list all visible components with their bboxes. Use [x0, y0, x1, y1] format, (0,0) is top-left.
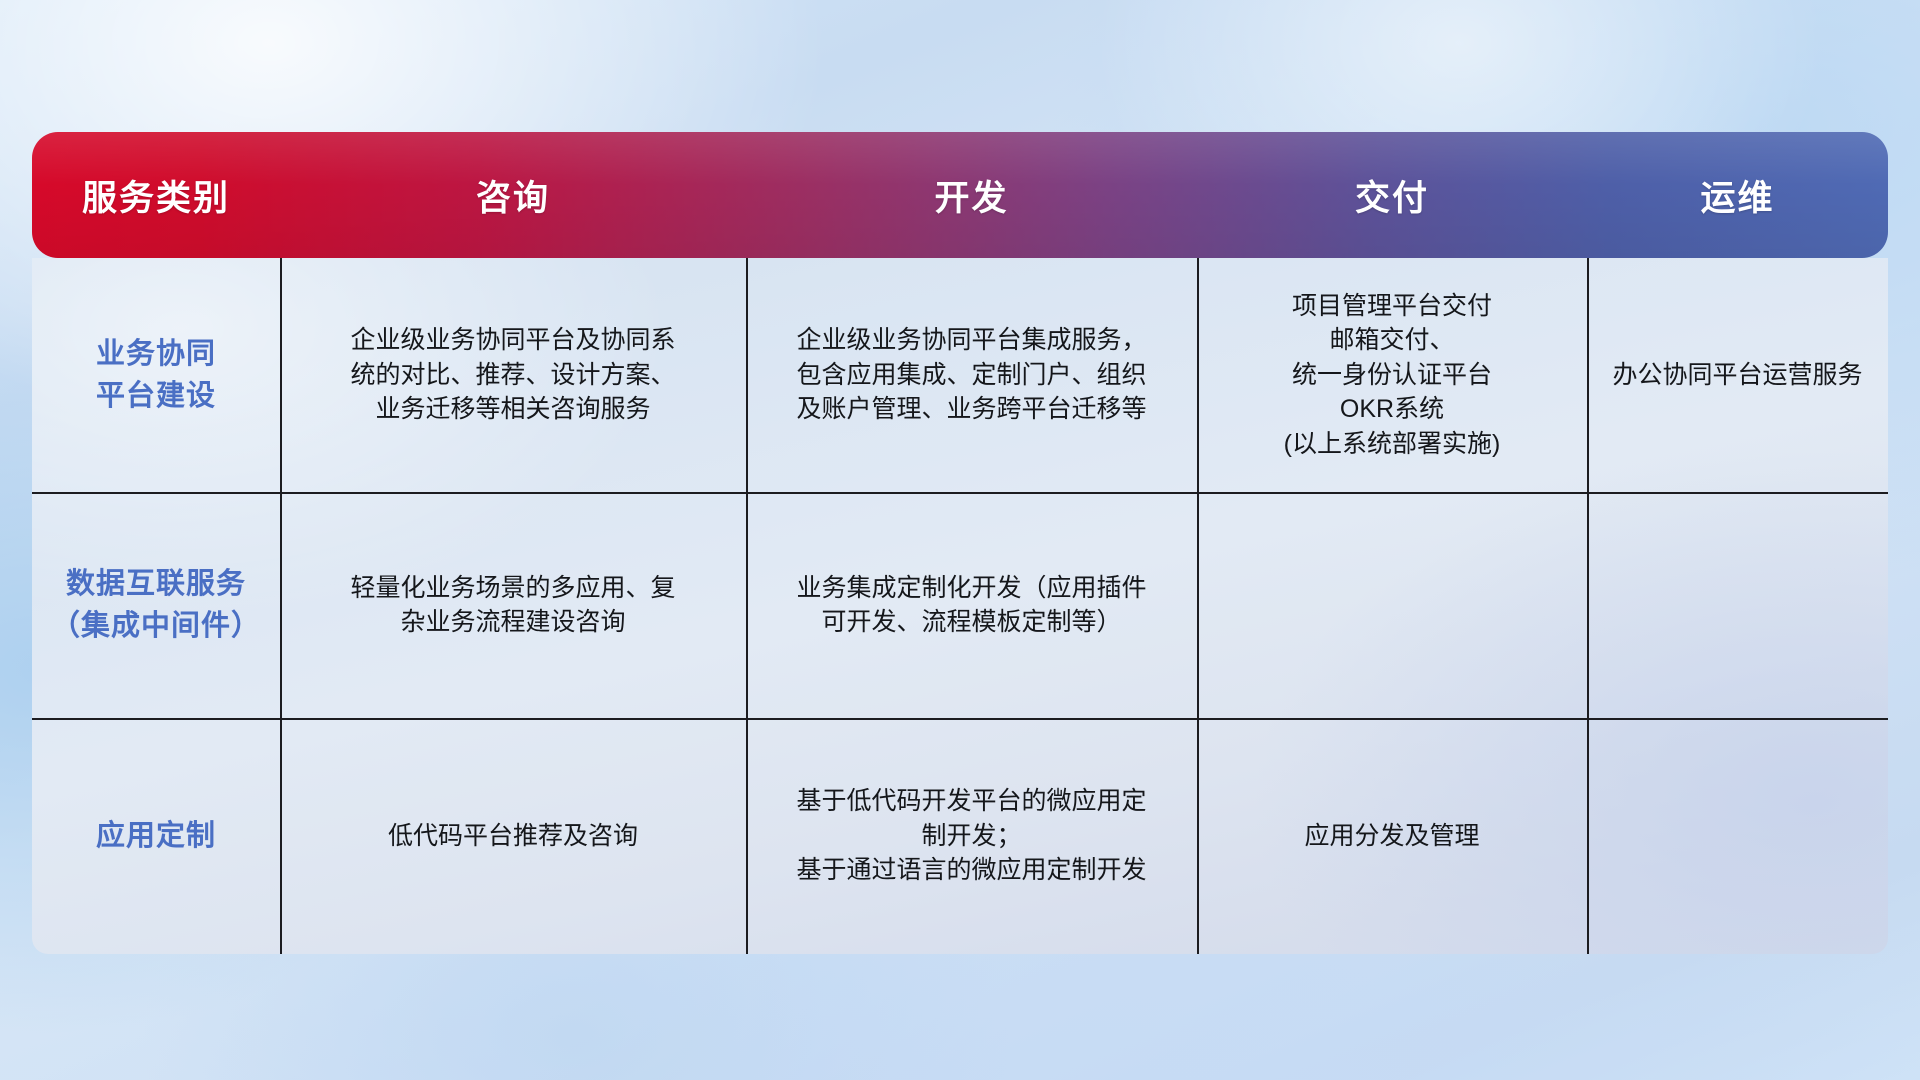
- cell-operations: [1587, 492, 1888, 718]
- column-header-delivery: 交付: [1197, 170, 1587, 221]
- column-header-operations: 运维: [1587, 170, 1888, 221]
- column-header-consulting: 咨询: [280, 170, 746, 221]
- table-header-row: 服务类别 咨询 开发 交付 运维: [32, 132, 1888, 258]
- cell-consulting: 低代码平台推荐及咨询: [280, 718, 746, 954]
- service-matrix-table: 服务类别 咨询 开发 交付 运维 业务协同 平台建设 企业级业务协同平台及协同系…: [32, 132, 1888, 954]
- row-divider-1: [32, 492, 1888, 494]
- cell-operations: 办公协同平台运营服务: [1587, 258, 1888, 492]
- column-divider-1: [280, 258, 282, 954]
- column-header-development: 开发: [746, 170, 1197, 221]
- cell-consulting: 企业级业务协同平台及协同系 统的对比、推荐、设计方案、 业务迁移等相关咨询服务: [280, 258, 746, 492]
- cell-development: 业务集成定制化开发（应用插件 可开发、流程模板定制等）: [746, 492, 1197, 718]
- table-body: 业务协同 平台建设 企业级业务协同平台及协同系 统的对比、推荐、设计方案、 业务…: [32, 258, 1888, 954]
- table-row: 数据互联服务 （集成中间件） 轻量化业务场景的多应用、复 杂业务流程建设咨询 业…: [32, 492, 1888, 718]
- column-divider-4: [1587, 258, 1589, 954]
- cell-category: 数据互联服务 （集成中间件）: [32, 492, 280, 718]
- column-header-category: 服务类别: [32, 170, 280, 221]
- table-row: 应用定制 低代码平台推荐及咨询 基于低代码开发平台的微应用定 制开发； 基于通过…: [32, 718, 1888, 954]
- cell-consulting: 轻量化业务场景的多应用、复 杂业务流程建设咨询: [280, 492, 746, 718]
- cell-development: 基于低代码开发平台的微应用定 制开发； 基于通过语言的微应用定制开发: [746, 718, 1197, 954]
- column-divider-3: [1197, 258, 1199, 954]
- column-divider-2: [746, 258, 748, 954]
- cell-category: 应用定制: [32, 718, 280, 954]
- row-divider-2: [32, 718, 1888, 720]
- cell-development: 企业级业务协同平台集成服务， 包含应用集成、定制门户、组织 及账户管理、业务跨平…: [746, 258, 1197, 492]
- cell-operations: [1587, 718, 1888, 954]
- cell-delivery: 应用分发及管理: [1197, 718, 1587, 954]
- table-row: 业务协同 平台建设 企业级业务协同平台及协同系 统的对比、推荐、设计方案、 业务…: [32, 258, 1888, 492]
- cell-delivery: 项目管理平台交付 邮箱交付、 统一身份认证平台 OKR系统 (以上系统部署实施): [1197, 258, 1587, 492]
- cell-delivery: [1197, 492, 1587, 718]
- cell-category: 业务协同 平台建设: [32, 258, 280, 492]
